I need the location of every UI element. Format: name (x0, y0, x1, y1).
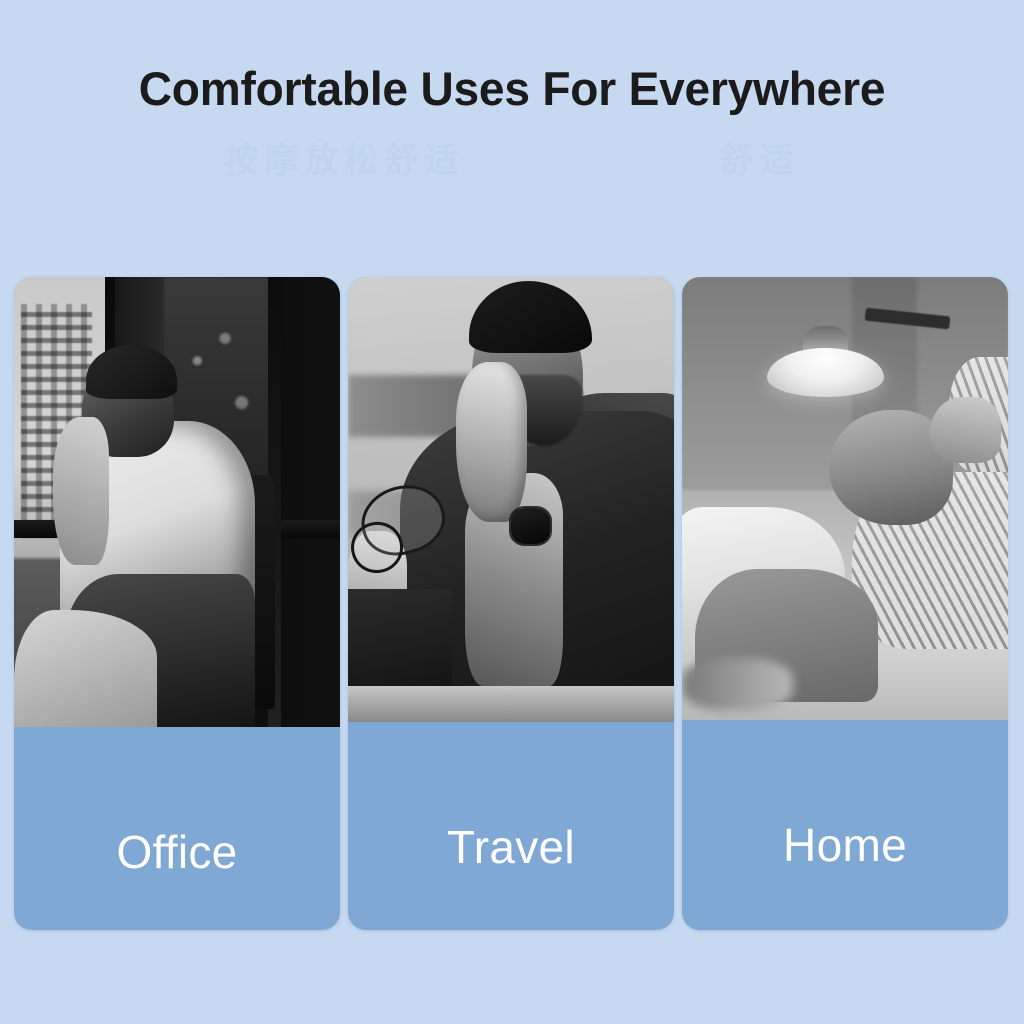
page-title: Comfortable Uses For Everywhere (10, 63, 1014, 115)
card-photo-office (14, 277, 340, 727)
card-panel: Home (682, 720, 1008, 930)
use-case-card[interactable]: Home 3 (682, 277, 1008, 930)
photo-home-scene (682, 277, 1008, 720)
watermark-text: 按摩放松舒适 舒适 (0, 133, 1024, 182)
photo-travel-scene (348, 277, 674, 722)
use-case-card[interactable]: Travel 2 (348, 277, 674, 930)
use-case-card-list: Office 1 (14, 277, 1010, 930)
card-label: Office (14, 829, 340, 875)
card-photo-travel (348, 277, 674, 722)
card-panel: Office (14, 727, 340, 930)
photo-office-scene (14, 277, 340, 727)
card-panel: Travel (348, 722, 674, 930)
card-label: Travel (348, 824, 674, 870)
watermark-right: 舒适 (720, 133, 800, 182)
poster-root: Comfortable Uses For Everywhere 按摩放松舒适 舒… (0, 0, 1024, 1024)
card-label: Home (682, 822, 1008, 868)
watermark-left: 按摩放松舒适 (224, 142, 464, 180)
card-photo-home (682, 277, 1008, 720)
use-case-card[interactable]: Office 1 (14, 277, 340, 930)
